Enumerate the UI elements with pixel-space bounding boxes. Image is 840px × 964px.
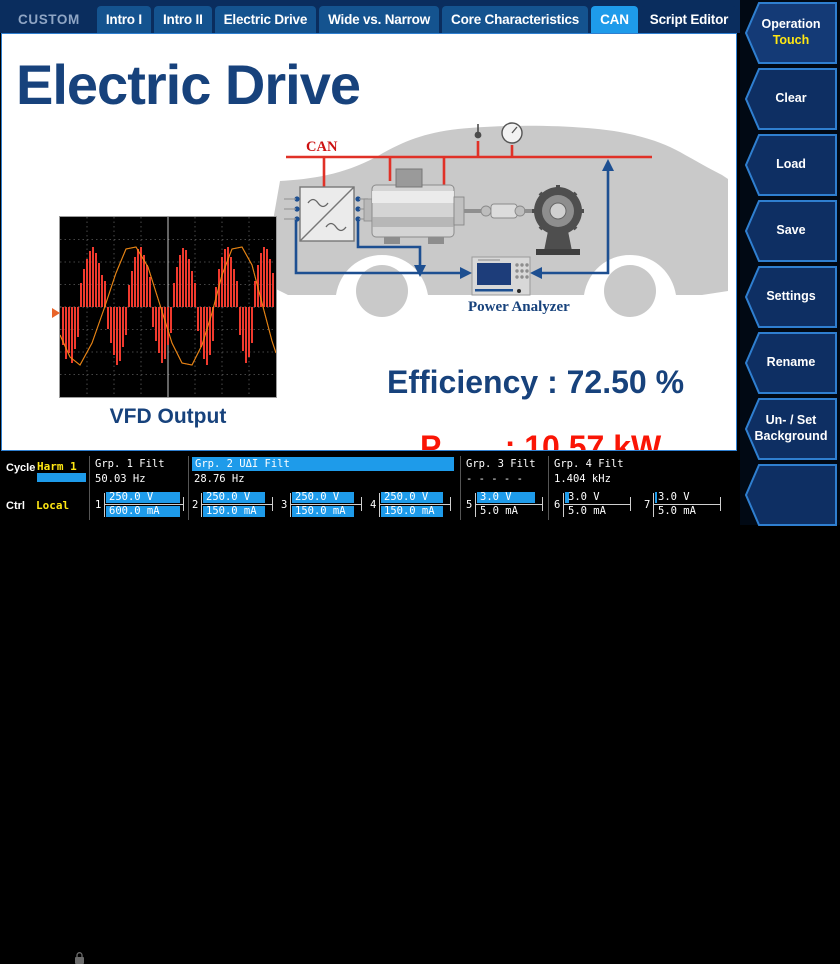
group-4-frequency: 1.404 kHz	[554, 473, 611, 485]
tab-can[interactable]: CAN	[591, 6, 638, 33]
channel-bracket	[475, 493, 476, 517]
trigger-level-marker[interactable]	[52, 308, 60, 318]
softkey-save[interactable]: Save	[745, 200, 837, 262]
channel-3-current: 150.0 mA	[295, 506, 346, 517]
channel-3[interactable]: 3 250.0 V 150.0 mA	[281, 492, 365, 518]
channel-5-current: 5.0 mA	[480, 506, 518, 517]
ploss-value: 10.57 kW	[524, 429, 661, 451]
softkey-unset-background[interactable]: Un- / Set Background	[745, 398, 837, 460]
ctrl-label: Ctrl	[6, 500, 25, 512]
channel-1-number: 1	[95, 499, 101, 511]
channel-bracket	[290, 493, 291, 517]
hex-button-shape	[745, 134, 837, 196]
content-panel: Electric Drive	[1, 33, 737, 451]
tab-wide-vs-narrow[interactable]: Wide vs. Narrow	[319, 6, 439, 33]
hex-button-shape	[745, 266, 837, 328]
tab-bar: CUSTOM Intro I Intro II Electric Drive W…	[0, 0, 740, 33]
page-title: Electric Drive	[16, 52, 360, 117]
channel-rail-end	[630, 497, 631, 511]
tab-script-editor[interactable]: Script Editor	[641, 6, 737, 33]
channel-5-number: 5	[466, 499, 472, 511]
channel-7-voltage-bar	[655, 492, 657, 503]
hex-button-shape	[745, 332, 837, 394]
channel-bracket	[104, 493, 105, 517]
hex-button-shape	[745, 200, 837, 262]
channel-rail-end	[450, 497, 451, 511]
channel-bracket	[653, 493, 654, 517]
status-separator	[460, 456, 461, 520]
efficiency-value: 72.50 %	[567, 364, 684, 400]
tab-electric-drive[interactable]: Electric Drive	[215, 6, 317, 33]
instrument-screen: CUSTOM Intro I Intro II Electric Drive W…	[0, 0, 840, 525]
channel-3-number: 3	[281, 499, 287, 511]
channel-bracket	[563, 493, 564, 517]
can-bus-label: CAN	[306, 139, 338, 155]
electric-drive-diagram: CAN	[272, 119, 732, 349]
scope-caption: VFD Output	[52, 405, 284, 429]
channel-5[interactable]: 5 3.0 V 5.0 mA	[466, 492, 546, 518]
channel-2-current: 150.0 mA	[206, 506, 257, 517]
channel-5-voltage: 3.0 V	[480, 492, 512, 503]
ploss-symbol: P	[420, 429, 441, 451]
channel-1[interactable]: 1 250.0 V 600.0 mA	[95, 492, 187, 518]
tab-core-characteristics[interactable]: Core Characteristics	[442, 6, 588, 33]
channel-3-voltage: 250.0 V	[295, 492, 339, 503]
waveform-panel: Voltage V	[52, 209, 282, 449]
channel-4-current: 150.0 mA	[384, 506, 435, 517]
channel-7-number: 7	[644, 499, 650, 511]
channel-7-voltage: 3.0 V	[658, 492, 690, 503]
hex-button-shape	[745, 2, 837, 64]
group-1-title: Grp. 1 Filt	[95, 458, 165, 470]
softkey-empty[interactable]	[745, 464, 837, 526]
ctrl-value[interactable]: Local	[36, 499, 69, 512]
channel-2[interactable]: 2 250.0 V 150.0 mA	[192, 492, 276, 518]
channel-1-voltage: 250.0 V	[109, 492, 153, 503]
channel-bracket	[201, 493, 202, 517]
softkey-settings[interactable]: Settings	[745, 266, 837, 328]
status-separator	[188, 456, 189, 520]
soft-key-sidebar: Operation Touch Clear Load Save	[740, 0, 840, 525]
group-2-title[interactable]: Grp. 2 UΔI Filt	[192, 457, 454, 471]
power-analyzer-label: Power Analyzer	[468, 299, 570, 315]
hex-button-shape	[745, 68, 837, 130]
channel-rail-end	[542, 497, 543, 511]
cycle-value[interactable]: Harm 1	[37, 460, 77, 473]
power-loss-readout: PLOSS : 10.57 kW	[420, 429, 661, 451]
group-1-frequency: 50.03 Hz	[95, 473, 146, 485]
channel-1-current: 600.0 mA	[109, 506, 160, 517]
hex-button-shape	[745, 398, 837, 460]
tab-intro-ii[interactable]: Intro II	[154, 6, 212, 33]
car-schematic-svg: CAN	[272, 119, 732, 349]
softkey-rename[interactable]: Rename	[745, 332, 837, 394]
channel-2-number: 2	[192, 499, 198, 511]
channel-rail-end	[361, 497, 362, 511]
cycle-bar	[37, 473, 86, 482]
ploss-subscript: LOSS	[441, 448, 495, 451]
group-4-title: Grp. 4 Filt	[554, 458, 624, 470]
waveform-svg	[60, 217, 276, 397]
tab-intro-i[interactable]: Intro I	[97, 6, 151, 33]
ploss-separator: :	[496, 429, 524, 451]
channel-bracket	[379, 493, 380, 517]
channel-rail-end	[720, 497, 721, 511]
hex-button-shape	[745, 464, 837, 526]
channel-6-current: 5.0 mA	[568, 506, 606, 517]
channel-4-number: 4	[370, 499, 376, 511]
group-2-frequency: 28.76 Hz	[194, 473, 245, 485]
channel-2-voltage: 250.0 V	[206, 492, 250, 503]
efficiency-readout: Efficiency : 72.50 %	[387, 364, 684, 401]
channel-4[interactable]: 4 250.0 V 150.0 mA	[370, 492, 454, 518]
channel-rail-end	[272, 497, 273, 511]
efficiency-label: Efficiency :	[387, 364, 567, 400]
channel-4-voltage: 250.0 V	[384, 492, 428, 503]
status-bar: Cycle Harm 1 Ctrl Local Grp. 1 Filt 50.0…	[0, 452, 740, 525]
status-separator	[548, 456, 549, 520]
channel-rail-end	[183, 497, 184, 511]
softkey-load[interactable]: Load	[745, 134, 837, 196]
cycle-label: Cycle	[6, 462, 35, 474]
softkey-operation[interactable]: Operation Touch	[745, 2, 837, 64]
channel-7-current: 5.0 mA	[658, 506, 696, 517]
scope-display[interactable]	[59, 216, 277, 398]
group-3-title: Grp. 3 Filt	[466, 458, 536, 470]
channel-6[interactable]: 6 3.0 V 5.0 mA	[554, 492, 634, 518]
channel-7[interactable]: 7 3.0 V 5.0 mA	[644, 492, 724, 518]
group-3-frequency: - - - - -	[466, 473, 523, 485]
channel-6-number: 6	[554, 499, 560, 511]
status-separator	[89, 456, 90, 520]
power-analyzer-icon	[472, 257, 530, 295]
lock-icon[interactable]	[74, 952, 85, 964]
tab-custom[interactable]: CUSTOM	[0, 6, 94, 33]
channel-6-voltage: 3.0 V	[568, 492, 600, 503]
softkey-clear[interactable]: Clear	[745, 68, 837, 130]
